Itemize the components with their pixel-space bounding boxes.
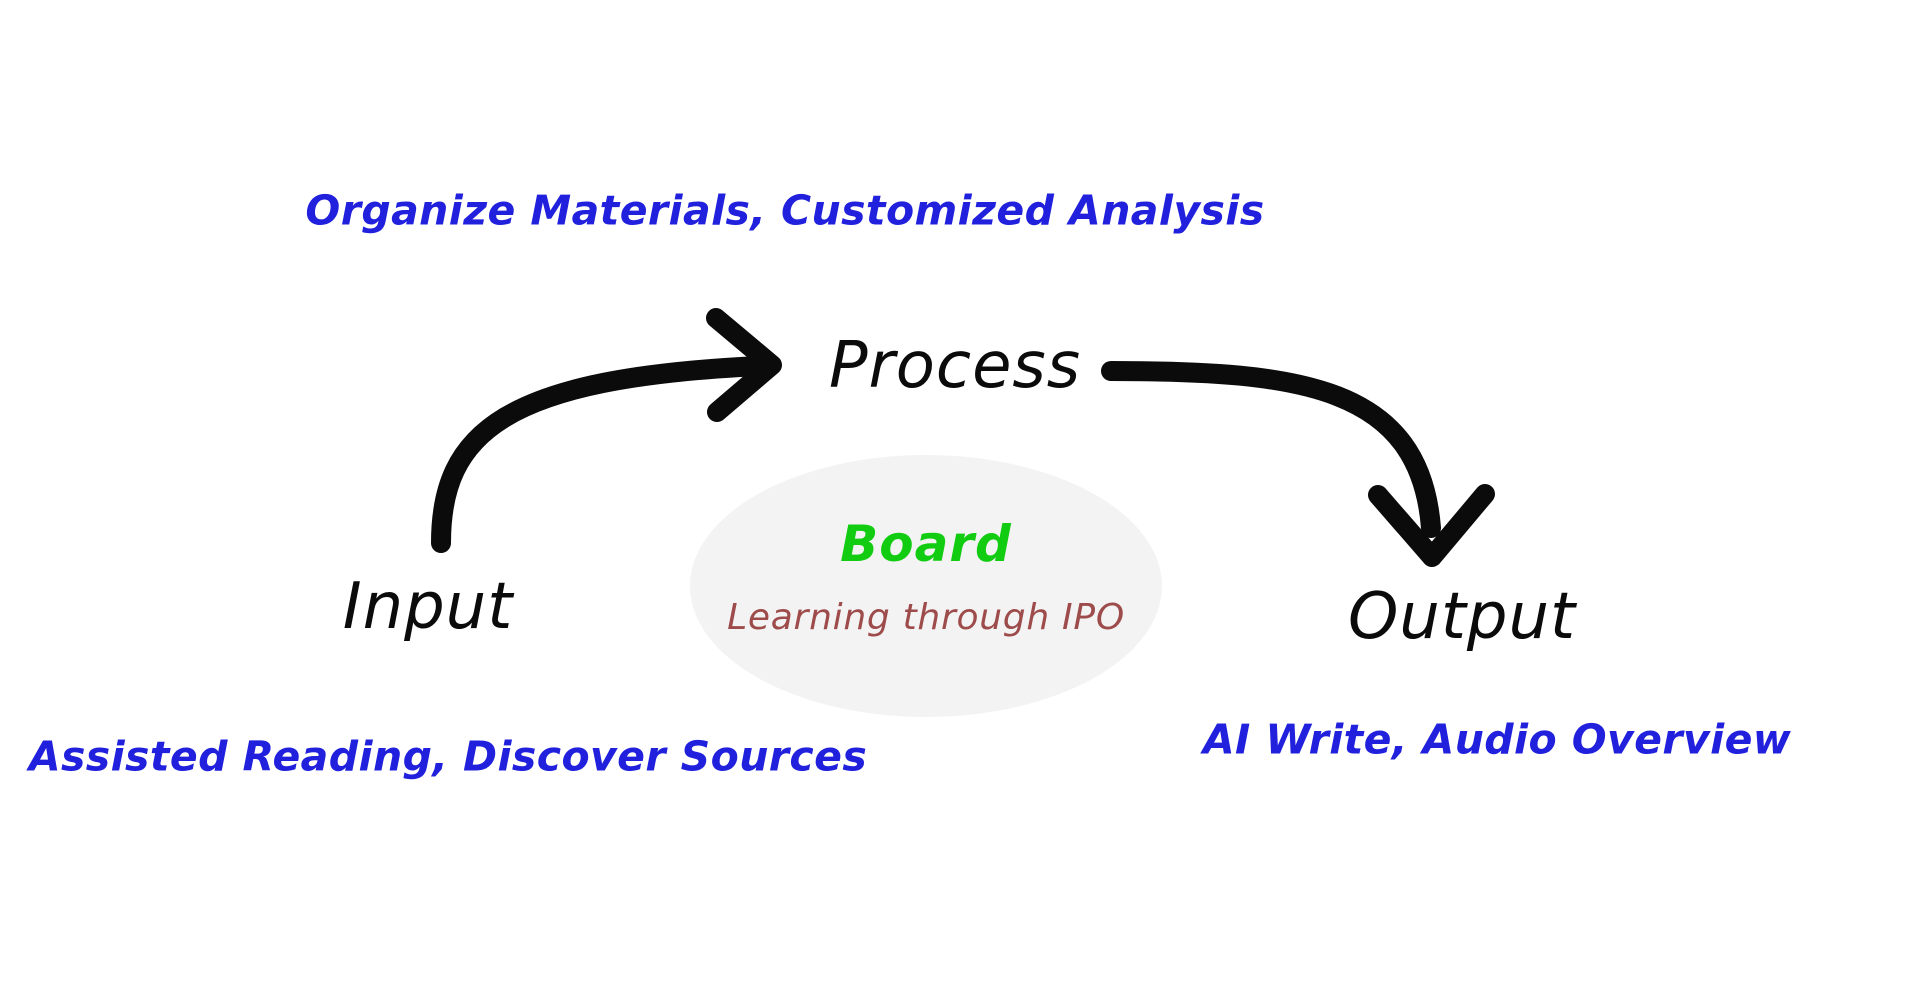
- board-subtitle: Learning through IPO: [727, 600, 1125, 636]
- caption-process: Organize Materials, Customized Analysis: [305, 191, 1264, 232]
- board-title: Board: [840, 519, 1012, 569]
- node-label-process: Process: [829, 334, 1081, 398]
- caption-output: AI Write, Audio Overview: [1203, 720, 1791, 761]
- arrow-input-to-process: [441, 318, 772, 543]
- caption-input: Assisted Reading, Discover Sources: [29, 737, 867, 778]
- arrow-layer: [0, 0, 1920, 997]
- diagram-canvas: Process Input Output Organize Materials,…: [0, 0, 1920, 997]
- arrow-process-to-output: [1111, 371, 1485, 557]
- node-label-output: Output: [1348, 585, 1576, 649]
- node-label-input: Input: [343, 575, 514, 639]
